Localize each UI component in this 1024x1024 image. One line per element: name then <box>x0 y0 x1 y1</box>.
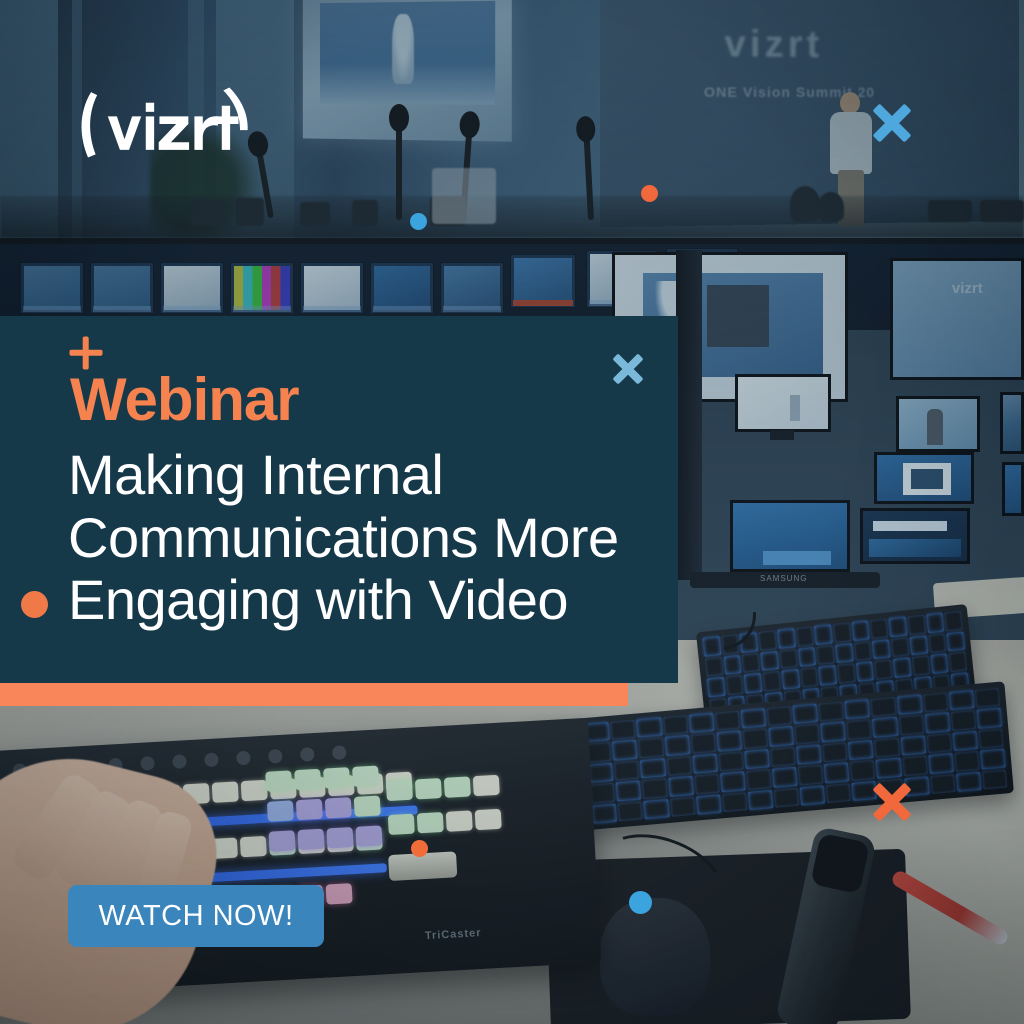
watch-now-label: WATCH NOW! <box>98 900 293 933</box>
bullet-dot-icon <box>21 591 48 618</box>
watch-now-button[interactable]: WATCH NOW! <box>68 885 324 947</box>
dot-blue-mousepad <box>629 891 652 914</box>
dot-orange-stage <box>641 185 658 202</box>
headline-line: Making Internal <box>68 444 668 507</box>
accent-bar <box>0 683 628 706</box>
dot-blue-top <box>410 213 427 230</box>
x-blue-stage <box>869 100 914 145</box>
panel-headline: Making Internal Communications More Enga… <box>68 444 668 632</box>
headline-line: Communications More <box>68 507 668 570</box>
headline-line: Engaging with Video <box>68 569 668 632</box>
x-orange-keyboard <box>869 779 914 824</box>
promo-graphic: vizrt ONE Vision Summit 20 <box>0 0 1024 1024</box>
dot-orange-switcher <box>411 840 428 857</box>
vizrt-logo <box>70 86 255 162</box>
plus-icon <box>69 336 102 369</box>
panel-kicker: Webinar <box>70 370 299 430</box>
close-icon[interactable] <box>610 351 646 387</box>
